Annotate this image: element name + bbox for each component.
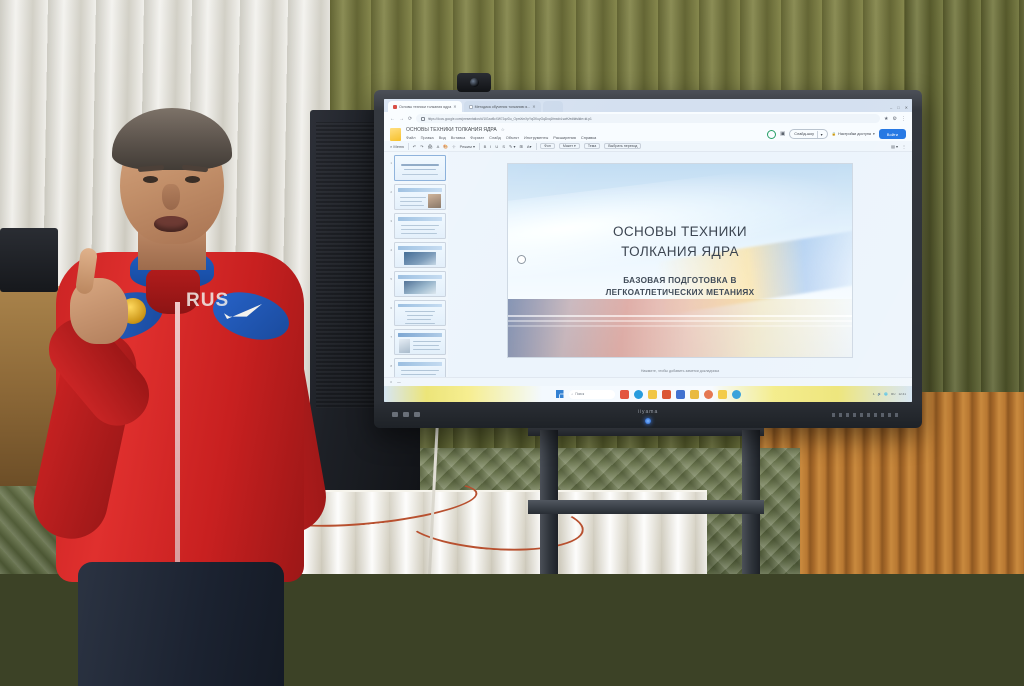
- bookmark-star-icon[interactable]: ★: [884, 116, 888, 122]
- menu-slide[interactable]: Слайд: [489, 135, 501, 140]
- zoom-icon[interactable]: ⊹: [452, 144, 455, 149]
- slide-title-text[interactable]: ОСНОВЫ ТЕХНИКИ ТОЛКАНИЯ ЯДРА: [613, 222, 747, 260]
- tab-title: Методика обучения толканию я...: [475, 105, 531, 109]
- transition-button[interactable]: Выбрать переход: [604, 143, 641, 149]
- slide-canvas-wrap: ОСНОВЫ ТЕХНИКИ ТОЛКАНИЯ ЯДРА БАЗОВАЯ ПОД…: [454, 156, 906, 365]
- bold-icon[interactable]: B: [484, 144, 487, 149]
- lock-share-icon: 🔒: [832, 132, 837, 136]
- menu-kebab-icon[interactable]: ⋮: [901, 116, 906, 122]
- presenter-mouth: [154, 216, 188, 232]
- menu-object[interactable]: Объект: [506, 135, 519, 140]
- chevron-down-icon[interactable]: ▾: [821, 132, 823, 137]
- display-screen[interactable]: Основы техники толкания ядра ✕ Методика …: [384, 99, 912, 402]
- star-icon[interactable]: ☆: [501, 127, 505, 133]
- filmstrip-item[interactable]: 8: [388, 358, 446, 377]
- filmstrip-item[interactable]: 6: [388, 300, 446, 326]
- volume-icon[interactable]: 🔊: [878, 392, 882, 396]
- divider: [479, 143, 480, 150]
- menu-tools[interactable]: Инструменты: [524, 135, 548, 140]
- filmstrip-item[interactable]: 4: [388, 242, 446, 268]
- system-tray: ∧ 🔊 🌐 RU 12:41: [872, 392, 906, 396]
- slide-number: 4: [388, 242, 392, 252]
- layout-button[interactable]: Макет ▾: [559, 143, 580, 149]
- resize-handle[interactable]: [517, 255, 526, 264]
- slide-thumbnail-6[interactable]: [394, 300, 446, 326]
- slide-thumbnail-4[interactable]: [394, 242, 446, 268]
- menu-bar: Файл Правка Вид Вставка Формат Слайд Объ…: [406, 135, 762, 140]
- current-slide[interactable]: ОСНОВЫ ТЕХНИКИ ТОЛКАНИЯ ЯДРА БАЗОВАЯ ПОД…: [507, 163, 853, 358]
- notes-placeholder: Нажмите, чтобы добавить заметки докладчи…: [641, 369, 719, 373]
- taskbar-app-red[interactable]: [620, 390, 629, 399]
- divider: [817, 131, 818, 138]
- browser-tab-3[interactable]: [543, 101, 563, 112]
- browser-tabstrip: Основы техники толкания ядра ✕ Методика …: [384, 99, 912, 112]
- slide-thumbnail-5[interactable]: [394, 271, 446, 297]
- power-led: [645, 418, 651, 424]
- display-controls[interactable]: [392, 412, 420, 417]
- menu-insert[interactable]: Вставка: [451, 135, 465, 140]
- slide-thumbnail-2[interactable]: [394, 184, 446, 210]
- filmstrip-item[interactable]: 3: [388, 213, 446, 239]
- menu-file[interactable]: Файл: [406, 135, 416, 140]
- explore-icon[interactable]: ⌂: [390, 380, 392, 384]
- theme-button[interactable]: Тема: [584, 143, 600, 149]
- line-icon[interactable]: ✎ ▾: [509, 144, 515, 149]
- start-icon[interactable]: [556, 390, 564, 398]
- menu-format[interactable]: Формат: [470, 135, 484, 140]
- tab-title: Основы техники толкания ядра: [399, 105, 451, 109]
- slide-subtitle-line1: БАЗОВАЯ ПОДГОТОВКА В: [606, 275, 755, 287]
- maximize-icon[interactable]: □: [897, 105, 899, 110]
- mode-select[interactable]: Режим ▾: [460, 144, 475, 149]
- slide-thumbnail-3[interactable]: [394, 213, 446, 239]
- filmstrip-item[interactable]: 2: [388, 184, 446, 210]
- display-brand-label: iiyama: [638, 409, 658, 415]
- address-bar[interactable]: https://docs.google.com/presentation/d/1…: [416, 114, 880, 123]
- text-style-icon[interactable]: A: [437, 144, 440, 149]
- lock-icon: [421, 117, 425, 121]
- filmstrip-item[interactable]: 5: [388, 271, 446, 297]
- slide-number: 8: [388, 358, 392, 368]
- slides-logo-icon: [390, 128, 401, 141]
- taskbar-search[interactable]: ⌕ Поиск: [569, 390, 615, 399]
- slide-canvas-area: ОСНОВЫ ТЕХНИКИ ТОЛКАНИЯ ЯДРА БАЗОВАЯ ПОД…: [448, 152, 912, 377]
- taskbar-app-mail[interactable]: [690, 390, 699, 399]
- slide-thumbnail-8[interactable]: [394, 358, 446, 377]
- filmstrip-item[interactable]: 7: [388, 329, 446, 355]
- share-button[interactable]: 🔒 Настройки доступа ▾: [832, 132, 875, 136]
- slide-number: 3: [388, 213, 392, 223]
- present-icon[interactable]: ▣: [780, 131, 785, 137]
- language-indicator[interactable]: RU: [891, 392, 895, 396]
- zoom-status[interactable]: —: [397, 380, 401, 384]
- menu-extensions[interactable]: Расширения: [553, 135, 576, 140]
- slide-title-line2: ТОЛКАНИЯ ЯДРА: [613, 242, 747, 261]
- presenter-eye-right: [185, 176, 200, 183]
- menu-edit[interactable]: Правка: [421, 135, 434, 140]
- slide-thumbnail-1[interactable]: [394, 155, 446, 181]
- close-icon[interactable]: ✕: [453, 104, 456, 109]
- slide-number: 6: [388, 300, 392, 310]
- slides-statusbar: ⌂ —: [384, 377, 912, 386]
- display-vent: [832, 413, 902, 417]
- control-button-3: [414, 412, 420, 417]
- slide-filmstrip[interactable]: 1 2: [384, 152, 448, 377]
- slide-number: 7: [388, 329, 392, 339]
- slide-subtitle-line2: ЛЕГКОАТЛЕТИЧЕСКИХ МЕТАНИЯХ: [606, 287, 755, 299]
- control-button-1: [392, 412, 398, 417]
- clock[interactable]: 12:41: [898, 392, 906, 396]
- presenter-eye-left: [143, 176, 158, 183]
- menu-help[interactable]: Справка: [581, 135, 596, 140]
- filmstrip-item[interactable]: 1: [388, 155, 446, 181]
- search-placeholder: Поиск: [575, 392, 584, 396]
- window-controls: – □ ✕: [890, 105, 908, 112]
- minimize-icon[interactable]: –: [890, 105, 892, 110]
- webcam-icon: [457, 73, 491, 92]
- slide-number: 2: [388, 184, 392, 194]
- slide-number: 1: [388, 155, 392, 165]
- omnibox-actions: ★ ⚙ ⋮: [884, 116, 906, 122]
- jacket-text: RUS: [186, 290, 229, 312]
- presenter-trousers: [78, 562, 284, 686]
- taskbar-app-word[interactable]: [662, 390, 671, 399]
- search-icon: ⌕: [572, 392, 574, 396]
- browser-tab-1[interactable]: Основы техники толкания ядра ✕: [388, 101, 462, 112]
- windows-taskbar: ⌕ Поиск ∧ 🔊 🌐 RU 12:41: [384, 386, 912, 402]
- taskbar-app-edge[interactable]: [634, 390, 643, 399]
- underline-icon[interactable]: U: [495, 144, 498, 149]
- slideshow-label: Слайд-шоу: [794, 132, 814, 136]
- view-mode-icon[interactable]: ▤ ▾: [891, 144, 898, 149]
- extensions-icon[interactable]: ⚙: [893, 116, 897, 122]
- text-color-icon[interactable]: A▾: [527, 144, 532, 149]
- chevron-down-icon[interactable]: ▾: [873, 132, 875, 136]
- reload-icon[interactable]: ⟳: [408, 116, 412, 122]
- back-icon[interactable]: ←: [390, 116, 395, 122]
- redo-icon[interactable]: ↷: [420, 144, 423, 149]
- close-window-icon[interactable]: ✕: [905, 105, 908, 110]
- taskbar-app-telegram[interactable]: [732, 390, 741, 399]
- divider: [536, 143, 537, 150]
- speaker-notes-area[interactable]: Нажмите, чтобы добавить заметки докладчи…: [454, 365, 906, 377]
- undo-icon[interactable]: ↶: [413, 144, 416, 149]
- shape-icon[interactable]: S: [502, 144, 505, 149]
- slides-workspace: 1 2: [384, 152, 912, 377]
- slide-subtitle-text[interactable]: БАЗОВАЯ ПОДГОТОВКА В ЛЕГКОАТЛЕТИЧЕСКИХ М…: [606, 275, 755, 299]
- browser-tab-2[interactable]: Методика обучения толканию я... ✕: [464, 101, 541, 112]
- favicon-icon: [469, 105, 473, 109]
- slides-appbar: ОСНОВЫ ТЕХНИКИ ТОЛКАНИЯ ЯДРА ☆ Файл Прав…: [384, 125, 912, 141]
- toolbar-search[interactable]: ⌕ Меню: [390, 144, 404, 149]
- background-button[interactable]: Фон: [540, 143, 555, 149]
- taskbar-app-browser[interactable]: [704, 390, 713, 399]
- presenter: RUS: [34, 112, 310, 574]
- presenter-hair: [112, 108, 232, 170]
- slide-thumbnail-7[interactable]: [394, 329, 446, 355]
- network-icon[interactable]: 🌐: [884, 392, 888, 396]
- document-title[interactable]: ОСНОВЫ ТЕХНИКИ ТОЛКАНИЯ ЯДРА: [406, 127, 497, 133]
- url-text: https://docs.google.com/presentation/d/1…: [428, 117, 592, 121]
- slide-title-line1: ОСНОВЫ ТЕХНИКИ: [613, 222, 747, 241]
- favicon-icon: [393, 105, 397, 109]
- browser-omnibox-row: ← → ⟳ https://docs.google.com/presentati…: [384, 112, 912, 125]
- taskbar-app-yellow[interactable]: [718, 390, 727, 399]
- stand-crossbar-bottom: [528, 500, 764, 514]
- tray-expand-icon[interactable]: ∧: [872, 392, 874, 396]
- divider: [408, 143, 409, 150]
- toolbar-right: ▤ ▾ ⋮: [891, 144, 906, 149]
- menu-view[interactable]: Вид: [439, 135, 446, 140]
- slide-background-track: [508, 299, 852, 357]
- table-icon[interactable]: ⊞: [519, 144, 522, 149]
- slideshow-button[interactable]: Слайд-шоу ▾: [789, 129, 827, 139]
- jacket-zipper: [175, 302, 180, 580]
- close-icon[interactable]: ✕: [532, 104, 535, 109]
- slides-toolbar: ⌕ Меню ↶ ↷ 🖨 A 🎨 ⊹ Режим ▾ B I U S ✎ ▾ ⊞…: [384, 141, 912, 152]
- interactive-display: Основы техники толкания ядра ✕ Методика …: [374, 90, 922, 428]
- italic-icon[interactable]: I: [490, 144, 491, 149]
- right-wall-curtain: [905, 0, 1024, 392]
- share-label: Настройки доступа: [838, 132, 871, 136]
- taskbar-app-explorer[interactable]: [648, 390, 657, 399]
- forward-icon[interactable]: →: [399, 116, 404, 122]
- more-options-icon[interactable]: ⋮: [902, 144, 906, 149]
- appbar-actions: ▣ Слайд-шоу ▾ 🔒 Настройки доступа ▾ Войт…: [767, 127, 906, 139]
- meet-icon[interactable]: [767, 130, 776, 139]
- control-button-2: [403, 412, 409, 417]
- signin-button[interactable]: Войти: [879, 129, 906, 139]
- presenter-nose: [162, 184, 180, 210]
- print-icon[interactable]: 🖨: [427, 144, 432, 149]
- slide-number: 5: [388, 271, 392, 281]
- paint-format-icon[interactable]: 🎨: [443, 144, 448, 149]
- taskbar-app-store[interactable]: [676, 390, 685, 399]
